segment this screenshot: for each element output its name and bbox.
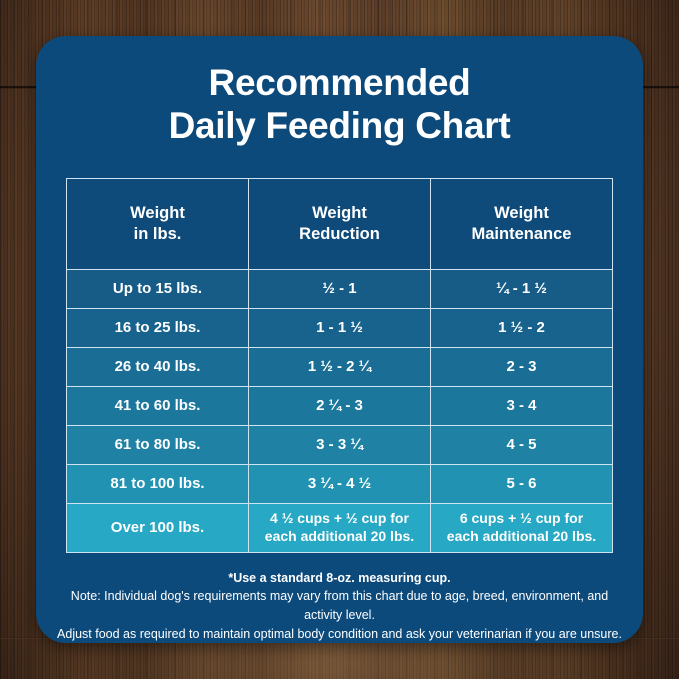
column-header-reduction: Weight Reduction [249,179,431,270]
cell-reduction-line: 3 - 3 ¼ [249,436,430,454]
cell-maintenance: ¼ - 1 ½ [431,270,613,309]
table-row: Over 100 lbs. 4 ½ cups + ½ cup for each … [67,504,613,553]
table-row: 41 to 60 lbs. 2 ¼ - 3 3 - 4 [67,387,613,426]
cell-weight: Over 100 lbs. [67,504,249,553]
cell-maintenance-line: 4 - 5 [431,436,612,454]
column-header-weight-line-1: Weight [67,203,248,224]
cell-reduction: 4 ½ cups + ½ cup for each additional 20 … [249,504,431,553]
cell-maintenance: 2 - 3 [431,348,613,387]
cell-reduction: 3 - 3 ¼ [249,426,431,465]
title-line-2: Daily Feeding Chart [36,105,643,148]
cell-reduction-line-1: 4 ½ cups + ½ cup for [249,510,430,528]
cell-weight: 41 to 60 lbs. [67,387,249,426]
feeding-chart-card: Recommended Daily Feeding Chart Weight i… [36,36,643,643]
cell-maintenance-line: 1 ½ - 2 [431,319,612,337]
column-header-maintenance-line-1: Weight [431,203,612,224]
cell-weight: 61 to 80 lbs. [67,426,249,465]
column-header-weight-line-2: in lbs. [67,224,248,245]
cell-maintenance: 5 - 6 [431,465,613,504]
cell-maintenance: 6 cups + ½ cup for each additional 20 lb… [431,504,613,553]
cell-maintenance-line-2: each additional 20 lbs. [431,528,612,546]
table-row: Up to 15 lbs. ½ - 1 ¼ - 1 ½ [67,270,613,309]
table-row: 16 to 25 lbs. 1 - 1 ½ 1 ½ - 2 [67,309,613,348]
table-body: Up to 15 lbs. ½ - 1 ¼ - 1 ½ 16 to 25 lbs… [67,270,613,553]
cell-maintenance-line: 3 - 4 [431,397,612,415]
column-header-maintenance: Weight Maintenance [431,179,613,270]
cell-reduction-line-2: each additional 20 lbs. [249,528,430,546]
cell-maintenance-line: 5 - 6 [431,475,612,493]
column-header-reduction-line-2: Reduction [249,224,430,245]
cell-maintenance: 3 - 4 [431,387,613,426]
footnote-note-line-1: Note: Individual dog's requirements may … [54,587,625,625]
cell-maintenance: 1 ½ - 2 [431,309,613,348]
table-header: Weight in lbs. Weight Reduction Weight M… [67,179,613,270]
cell-maintenance-line-1: 6 cups + ½ cup for [431,510,612,528]
cell-reduction: ½ - 1 [249,270,431,309]
feeding-chart-table: Weight in lbs. Weight Reduction Weight M… [66,178,613,553]
cell-maintenance: 4 - 5 [431,426,613,465]
footnote-note-line-2: Adjust food as required to maintain opti… [54,625,625,643]
cell-reduction-line: 3 ¼ - 4 ½ [249,475,430,493]
cell-reduction: 2 ¼ - 3 [249,387,431,426]
title-line-1: Recommended [36,62,643,105]
cell-weight: 26 to 40 lbs. [67,348,249,387]
footnotes: *Use a standard 8-oz. measuring cup. Not… [54,569,625,643]
cell-reduction-line: 1 ½ - 2 ¼ [249,358,430,376]
column-header-weight: Weight in lbs. [67,179,249,270]
table-row: 26 to 40 lbs. 1 ½ - 2 ¼ 2 - 3 [67,348,613,387]
cell-reduction: 1 ½ - 2 ¼ [249,348,431,387]
cell-weight: 81 to 100 lbs. [67,465,249,504]
cell-reduction-line: 1 - 1 ½ [249,319,430,337]
table-row: 81 to 100 lbs. 3 ¼ - 4 ½ 5 - 6 [67,465,613,504]
cell-reduction-line: ½ - 1 [249,280,430,298]
cell-maintenance-line: ¼ - 1 ½ [431,280,612,298]
cell-maintenance-line: 2 - 3 [431,358,612,376]
footnote-measuring-cup: *Use a standard 8-oz. measuring cup. [54,569,625,587]
column-header-maintenance-line-2: Maintenance [431,224,612,245]
table-header-row: Weight in lbs. Weight Reduction Weight M… [67,179,613,270]
cell-weight: 16 to 25 lbs. [67,309,249,348]
cell-reduction: 1 - 1 ½ [249,309,431,348]
cell-reduction-line: 2 ¼ - 3 [249,397,430,415]
table-row: 61 to 80 lbs. 3 - 3 ¼ 4 - 5 [67,426,613,465]
cell-weight: Up to 15 lbs. [67,270,249,309]
page-title: Recommended Daily Feeding Chart [36,62,643,148]
cell-reduction: 3 ¼ - 4 ½ [249,465,431,504]
column-header-reduction-line-1: Weight [249,203,430,224]
